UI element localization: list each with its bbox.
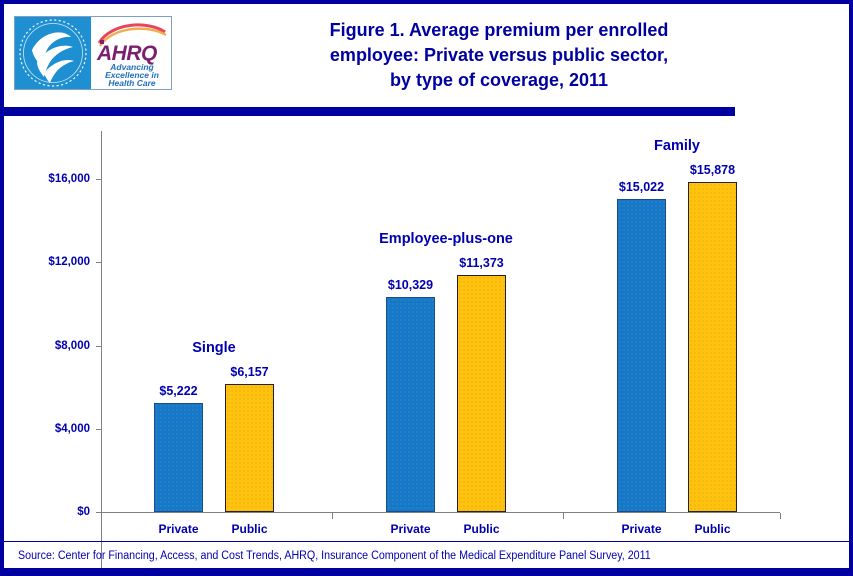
title-line-1: Figure 1. Average premium per enrolled — [179, 18, 819, 43]
title-line-3: by type of coverage, 2011 — [179, 68, 819, 93]
y-axis-label: $12,000 — [12, 256, 90, 268]
header-divider — [4, 107, 735, 116]
y-axis-line — [101, 131, 102, 576]
bar-public-single — [225, 384, 274, 512]
footer-band — [4, 568, 849, 572]
y-tick — [96, 262, 101, 263]
ahrq-wordmark: AHRQ Advancing Excellence in Health Care — [91, 17, 171, 89]
x-axis-category-label: Private — [390, 522, 430, 536]
bar-value-label: $10,329 — [388, 278, 433, 292]
y-axis-label: $4,000 — [12, 423, 90, 435]
x-axis-category-label: Public — [463, 522, 499, 536]
x-axis-separator-tick — [563, 513, 564, 519]
bar-chart: $0$4,000$8,000$12,000$16,000 $5,222Priva… — [4, 116, 849, 541]
bar-value-label: $15,878 — [690, 163, 735, 177]
group-heading-family: Family — [654, 138, 700, 154]
bar-private-employee-plus-one — [386, 297, 435, 512]
x-axis-category-label: Public — [231, 522, 267, 536]
agency-logo: AHRQ Advancing Excellence in Health Care — [14, 16, 172, 90]
y-tick — [96, 179, 101, 180]
x-axis-separator-tick — [101, 513, 102, 519]
page-title: Figure 1. Average premium per enrolled e… — [179, 18, 819, 93]
x-axis-category-label: Public — [694, 522, 730, 536]
group-heading-employee-plus-one: Employee-plus-one — [379, 231, 513, 247]
title-line-2: employee: Private versus public sector, — [179, 43, 819, 68]
svg-text:Health Care: Health Care — [108, 78, 156, 88]
footer-divider — [4, 541, 849, 542]
y-axis-label: $0 — [12, 506, 90, 518]
x-axis-separator-tick — [780, 513, 781, 519]
bar-value-label: $6,157 — [230, 365, 268, 379]
header: AHRQ Advancing Excellence in Health Care… — [4, 4, 849, 107]
group-heading-single: Single — [192, 340, 236, 356]
y-axis-label: $16,000 — [12, 173, 90, 185]
bar-value-label: $5,222 — [159, 384, 197, 398]
x-axis-separator-tick — [332, 513, 333, 519]
y-tick — [96, 429, 101, 430]
x-axis-category-label: Private — [621, 522, 661, 536]
bar-private-single — [154, 403, 203, 512]
bar-private-family — [617, 199, 666, 512]
y-tick — [96, 346, 101, 347]
figure-page: AHRQ Advancing Excellence in Health Care… — [0, 0, 853, 576]
y-axis-label: $8,000 — [12, 340, 90, 352]
bar-value-label: $15,022 — [619, 180, 664, 194]
source-note: Source: Center for Financing, Access, an… — [18, 550, 651, 562]
x-axis-line — [101, 512, 780, 513]
bar-value-label: $11,373 — [459, 256, 504, 270]
bar-public-employee-plus-one — [457, 275, 506, 512]
x-axis-category-label: Private — [158, 522, 198, 536]
hhs-seal-icon — [15, 17, 91, 89]
bar-public-family — [688, 182, 737, 512]
